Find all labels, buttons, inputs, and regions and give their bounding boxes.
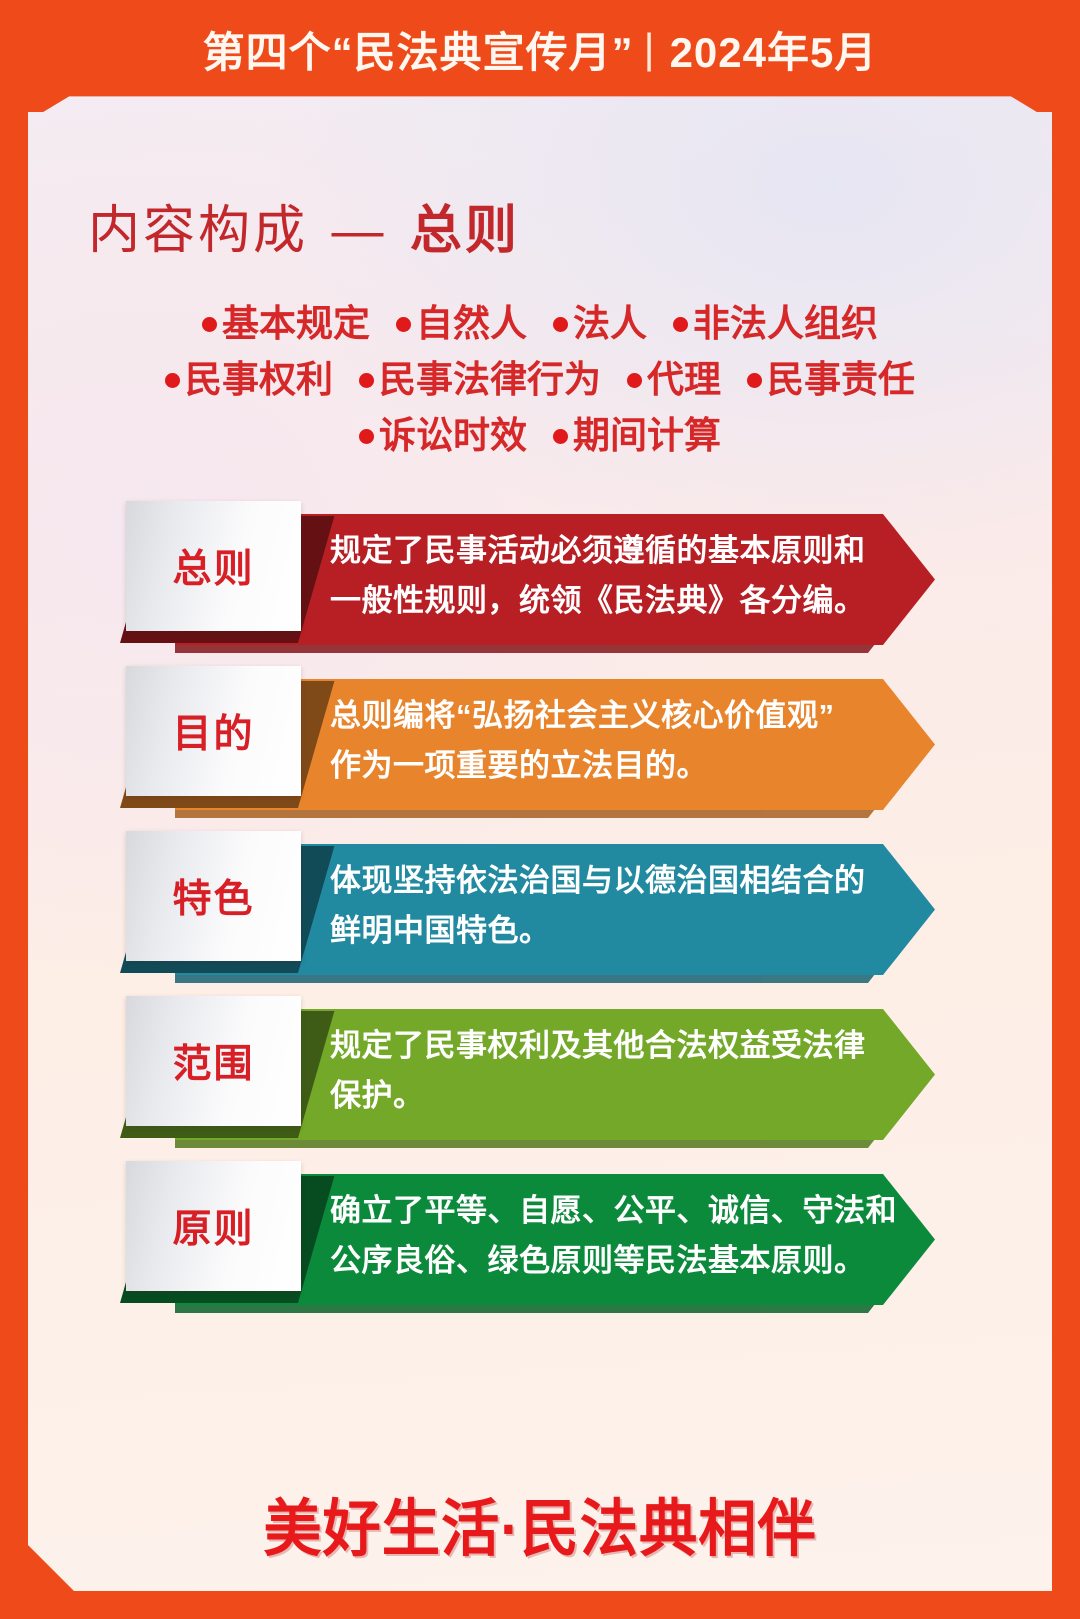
keyword-item: 民事责任 xyxy=(747,352,915,408)
row-description-line: 公序良俗、绿色原则等民法基本原则。 xyxy=(330,1236,890,1286)
row-chip-label: 目的 xyxy=(172,703,254,759)
section-heading-light: 内容构成 xyxy=(88,202,308,260)
row-chip-label: 范围 xyxy=(172,1033,254,1089)
bullet-dot-icon xyxy=(553,317,568,332)
content-row: 总则规定了民事活动必须遵循的基本原则和一般性规则，统领《民法典》各分编。 xyxy=(0,498,1080,663)
bullet-dot-icon xyxy=(359,373,374,388)
row-description: 确立了平等、自愿、公平、诚信、守法和公序良俗、绿色原则等民法基本原则。 xyxy=(330,1186,890,1286)
keyword-row: 民事权利民事法律行为代理民事责任 xyxy=(60,352,1020,408)
footer-slogan: 美好生活·民法典相伴 xyxy=(32,1478,1047,1568)
header-title-separator: | xyxy=(644,25,656,73)
section-heading: 内容构成 — 总则 xyxy=(88,188,520,263)
header-title-main: 第四个“民法典宣传月” xyxy=(203,19,634,80)
row-description-line: 作为一项重要的立法目的。 xyxy=(330,741,890,791)
keyword-label: 法人 xyxy=(573,296,647,352)
keyword-row: 基本规定自然人法人非法人组织 xyxy=(60,296,1020,352)
row-description-line: 确立了平等、自愿、公平、诚信、守法和 xyxy=(330,1186,890,1236)
row-chip: 总则 xyxy=(126,501,301,631)
keyword-item: 诉讼时效 xyxy=(359,408,527,464)
bullet-dot-icon xyxy=(165,373,180,388)
bullet-dot-icon xyxy=(673,317,688,332)
row-description-line: 一般性规则，统领《民法典》各分编。 xyxy=(330,576,890,626)
row-description: 体现坚持依法治国与以德治国相结合的鲜明中国特色。 xyxy=(330,856,890,956)
keyword-label: 基本规定 xyxy=(222,296,370,352)
header-title-date: 2024年5月 xyxy=(670,19,878,80)
keyword-row: 诉讼时效期间计算 xyxy=(60,408,1020,464)
content-row: 特色体现坚持依法治国与以德治国相结合的鲜明中国特色。 xyxy=(0,828,1080,993)
content-row: 范围规定了民事权利及其他合法权益受法律保护。 xyxy=(0,993,1080,1158)
row-chip: 范围 xyxy=(126,996,301,1126)
row-description-line: 鲜明中国特色。 xyxy=(330,906,890,956)
row-chip: 原则 xyxy=(126,1161,301,1291)
keyword-label: 民事权利 xyxy=(185,352,333,408)
bullet-dot-icon xyxy=(202,317,217,332)
content-row: 原则确立了平等、自愿、公平、诚信、守法和公序良俗、绿色原则等民法基本原则。 xyxy=(0,1158,1080,1323)
keyword-label: 代理 xyxy=(647,352,721,408)
keyword-item: 代理 xyxy=(627,352,721,408)
keyword-item: 基本规定 xyxy=(202,296,370,352)
bullet-dot-icon xyxy=(359,429,374,444)
keyword-label: 非法人组织 xyxy=(693,296,878,352)
content-rows: 总则规定了民事活动必须遵循的基本原则和一般性规则，统领《民法典》各分编。目的总则… xyxy=(0,498,1080,1323)
row-description: 规定了民事权利及其他合法权益受法律保护。 xyxy=(330,1021,890,1121)
header-title: 第四个“民法典宣传月” | 2024年5月 xyxy=(0,0,1080,98)
keyword-item: 法人 xyxy=(553,296,647,352)
row-chip: 目的 xyxy=(126,666,301,796)
content-row: 目的总则编将“弘扬社会主义核心价值观”作为一项重要的立法目的。 xyxy=(0,663,1080,828)
row-chip-label: 特色 xyxy=(172,868,254,924)
row-chip-label: 总则 xyxy=(172,538,254,594)
bullet-dot-icon xyxy=(553,429,568,444)
keyword-list: 基本规定自然人法人非法人组织民事权利民事法律行为代理民事责任诉讼时效期间计算 xyxy=(60,296,1020,464)
row-chip-label: 原则 xyxy=(172,1198,254,1254)
keyword-label: 民事法律行为 xyxy=(379,352,601,408)
keyword-item: 非法人组织 xyxy=(673,296,878,352)
keyword-item: 自然人 xyxy=(396,296,527,352)
row-description: 总则编将“弘扬社会主义核心价值观”作为一项重要的立法目的。 xyxy=(330,691,890,791)
bullet-dot-icon xyxy=(627,373,642,388)
keyword-label: 诉讼时效 xyxy=(379,408,527,464)
row-description-line: 规定了民事权利及其他合法权益受法律 xyxy=(330,1021,890,1071)
keyword-label: 自然人 xyxy=(416,296,527,352)
keyword-label: 期间计算 xyxy=(573,408,721,464)
keyword-label: 民事责任 xyxy=(767,352,915,408)
row-description-line: 体现坚持依法治国与以德治国相结合的 xyxy=(330,856,890,906)
row-description-line: 保护。 xyxy=(330,1071,890,1121)
keyword-item: 民事法律行为 xyxy=(359,352,601,408)
row-chip: 特色 xyxy=(126,831,301,961)
row-description-line: 规定了民事活动必须遵循的基本原则和 xyxy=(330,526,890,576)
keyword-item: 期间计算 xyxy=(553,408,721,464)
row-description-line: 总则编将“弘扬社会主义核心价值观” xyxy=(330,691,890,741)
bullet-dot-icon xyxy=(396,317,411,332)
section-heading-dash: — xyxy=(331,202,386,260)
row-description: 规定了民事活动必须遵循的基本原则和一般性规则，统领《民法典》各分编。 xyxy=(330,526,890,626)
poster-root: 第四个“民法典宣传月” | 2024年5月 内容构成 — 总则 基本规定自然人法… xyxy=(0,0,1080,1619)
section-heading-bold: 总则 xyxy=(410,202,520,260)
keyword-item: 民事权利 xyxy=(165,352,333,408)
bullet-dot-icon xyxy=(747,373,762,388)
